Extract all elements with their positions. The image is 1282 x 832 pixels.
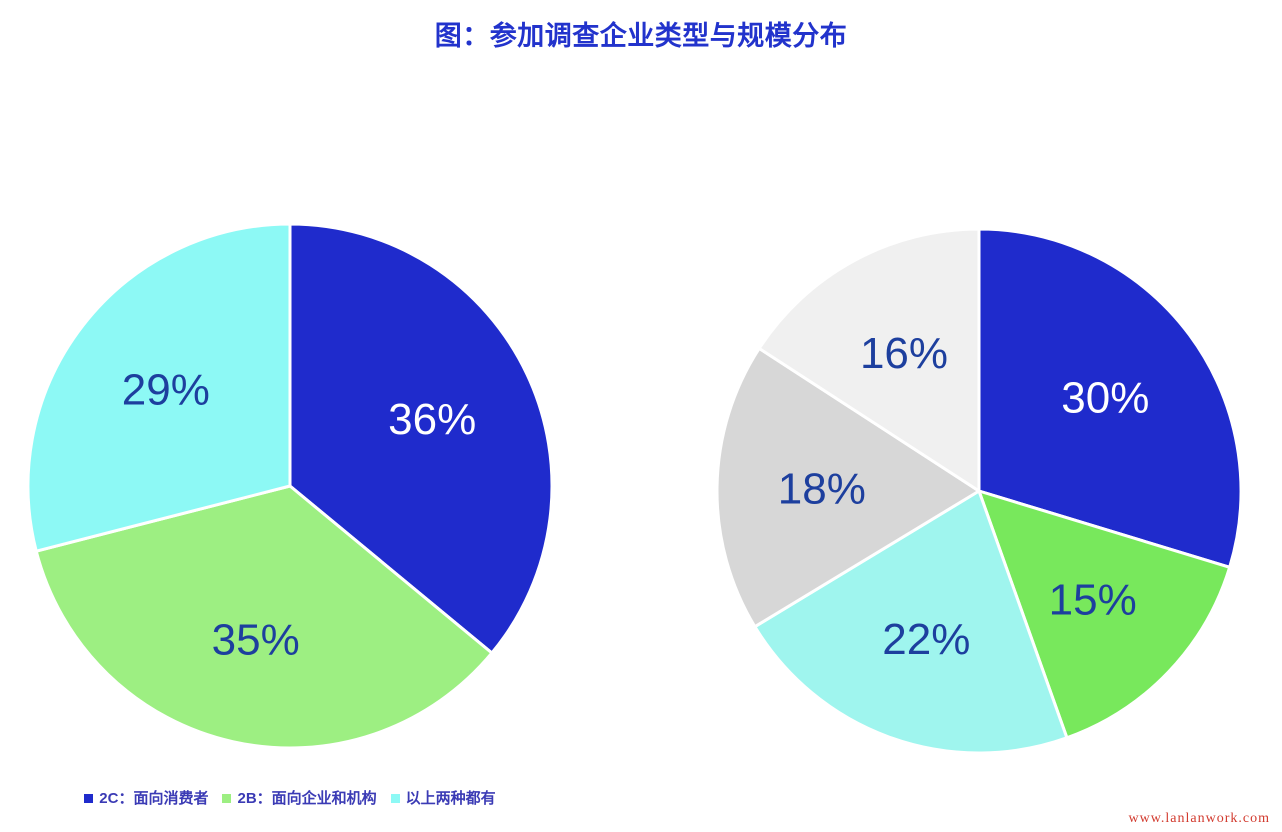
pie-slice-label: 16% bbox=[860, 329, 948, 378]
pie-chart-enterprise-scale-svg: 30%15%22%18%16% bbox=[715, 227, 1243, 755]
pie-slice-label: 30% bbox=[1061, 373, 1149, 422]
watermark-url: www.lanlanwork.com bbox=[1128, 811, 1270, 827]
pie-slice-label: 29% bbox=[122, 366, 210, 415]
pie-chart-enterprise-type-svg: 36%35%29% bbox=[26, 222, 554, 750]
pie-panel-enterprise-type: 36%35%29% 2C：面向消费者2B：面向企业和机构以上两种都有 bbox=[0, 0, 630, 832]
legend-item[interactable]: 2C：面向消费者 bbox=[84, 791, 208, 806]
pie-chart-enterprise-scale: 30%15%22%18%16% bbox=[715, 227, 1243, 755]
legend-swatch-icon bbox=[222, 794, 231, 803]
legend-item-label: 以上两种都有 bbox=[406, 791, 496, 806]
legend-item-label: 2C：面向消费者 bbox=[99, 791, 208, 806]
legend-enterprise-type: 2C：面向消费者2B：面向企业和机构以上两种都有 bbox=[0, 791, 580, 806]
pie-slice-label: 15% bbox=[1049, 576, 1137, 625]
pie-slice-label: 35% bbox=[212, 615, 300, 664]
legend-swatch-icon bbox=[84, 794, 93, 803]
legend-item-label: 2B：面向企业和机构 bbox=[237, 791, 376, 806]
pie-chart-enterprise-type: 36%35%29% bbox=[26, 222, 554, 750]
legend-item[interactable]: 2B：面向企业和机构 bbox=[222, 791, 376, 806]
pie-slice-label: 18% bbox=[778, 465, 866, 514]
legend-enterprise-scale: 5000人以上1001-5000人201-1000人1-50人51-200人 bbox=[1260, 791, 1282, 806]
pie-panel-enterprise-scale: 30%15%22%18%16% 5000人以上1001-5000人201-100… bbox=[630, 0, 1282, 832]
pie-slice-label: 36% bbox=[388, 395, 476, 444]
legend-swatch-icon bbox=[391, 794, 400, 803]
pie-slice-label: 22% bbox=[882, 615, 970, 664]
legend-item[interactable]: 以上两种都有 bbox=[391, 791, 496, 806]
